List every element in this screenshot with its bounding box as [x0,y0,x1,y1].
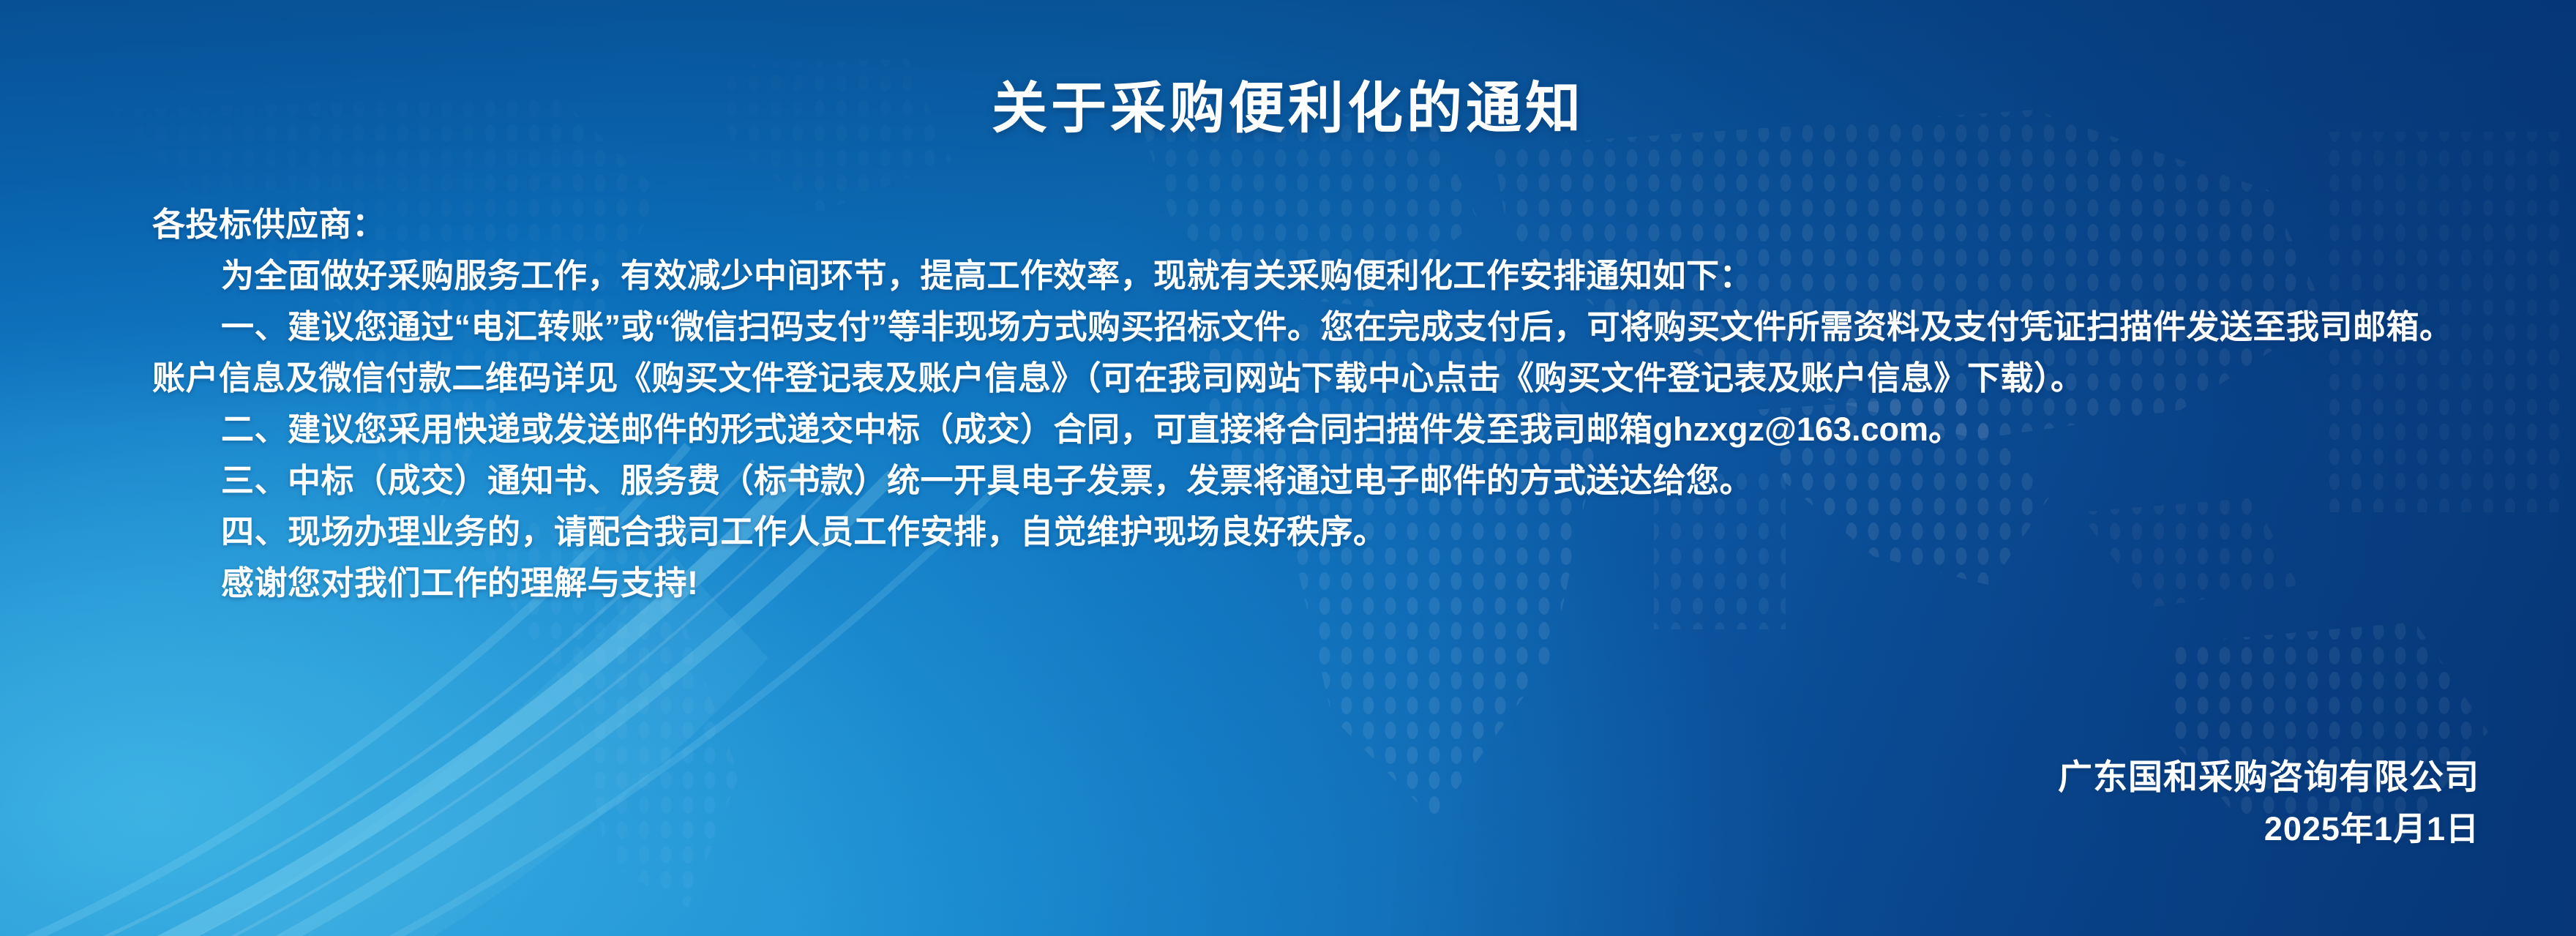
item-two-period: 。 [1928,411,1962,448]
item-three-paragraph: 三、中标（成交）通知书、服务费（标书款）统一开具电子发票，发票将通过电子邮件的方… [152,455,2481,506]
salutation: 各投标供应商： [152,199,2481,250]
closing-line: 感谢您对我们工作的理解与支持! [152,558,2481,609]
signature-date: 2025年1月1日 [2058,806,2479,852]
notice-banner: 关于采购便利化的通知 各投标供应商： 为全面做好采购服务工作，有效减少中间环节，… [0,0,2576,936]
contact-email: ghzxgz@163.com [1653,411,1928,448]
item-four-paragraph: 四、现场办理业务的，请配合我司工作人员工作安排，自觉维护现场良好秩序。 [152,506,2481,558]
signature-company: 广东国和采购咨询有限公司 [2058,754,2479,801]
item-two-paragraph: 二、建议您采用快递或发送邮件的形式递交中标（成交）合同，可直接将合同扫描件发至我… [152,404,2481,455]
page-title: 关于采购便利化的通知 [0,63,2576,143]
item-two-text: 二、建议您采用快递或发送邮件的形式递交中标（成交）合同，可直接将合同扫描件发至我… [221,411,1653,448]
item-one-paragraph: 一、建议您通过“电汇转账”或“微信扫码支付”等非现场方式购买招标文件。您在完成支… [152,302,2481,404]
notice-body: 各投标供应商： 为全面做好采购服务工作，有效减少中间环节，提高工作效率，现就有关… [152,199,2481,609]
intro-paragraph: 为全面做好采购服务工作，有效减少中间环节，提高工作效率，现就有关采购便利化工作安… [152,250,2481,302]
notice-content: 关于采购便利化的通知 各投标供应商： 为全面做好采购服务工作，有效减少中间环节，… [0,0,2576,936]
signature-block: 广东国和采购咨询有限公司 2025年1月1日 [2058,754,2479,852]
